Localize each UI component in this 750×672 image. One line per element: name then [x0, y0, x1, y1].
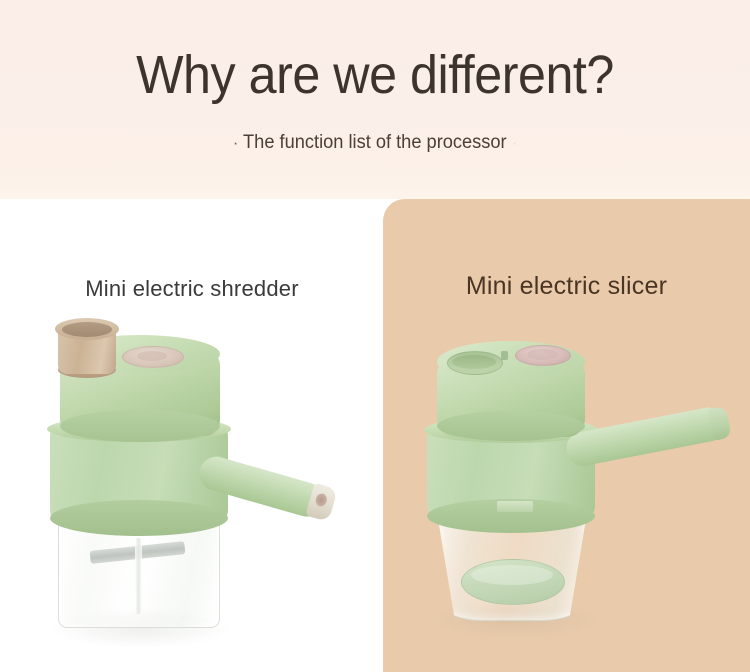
subtitle-trail-mark: · [512, 133, 517, 152]
product-comparison-image: Why are we different? · The function lis… [0, 0, 750, 672]
product-mini-electric-shredder [22, 324, 362, 644]
subtitle-lead-mark: · [233, 133, 238, 152]
panel-label-slicer: Mini electric slicer [383, 272, 750, 301]
lid-base-shade [60, 410, 220, 442]
handle [564, 405, 728, 469]
lid-base-shade [437, 411, 585, 441]
power-button-inner [527, 349, 558, 360]
slicing-disc-highlight [471, 565, 553, 585]
motor-body-base [50, 500, 228, 536]
power-button-inner [137, 351, 167, 361]
header-banner: Why are we different? · The function lis… [0, 0, 750, 199]
latch[interactable] [497, 501, 533, 512]
panel-slicer: Mini electric slicer [383, 199, 750, 672]
panel-label-shredder: Mini electric shredder [0, 276, 384, 302]
product-mini-electric-slicer [405, 331, 735, 651]
subtitle-text: The function list of the processor [243, 132, 507, 153]
page-title: Why are we different? [26, 44, 724, 106]
panel-shredder: Mini electric shredder [0, 199, 384, 672]
feed-funnel-opening [62, 322, 112, 337]
lid-opening-inner [452, 355, 496, 369]
page-subtitle: · The function list of the processor · [15, 130, 735, 156]
lid-notch [501, 351, 508, 360]
blade-shaft [135, 538, 142, 614]
